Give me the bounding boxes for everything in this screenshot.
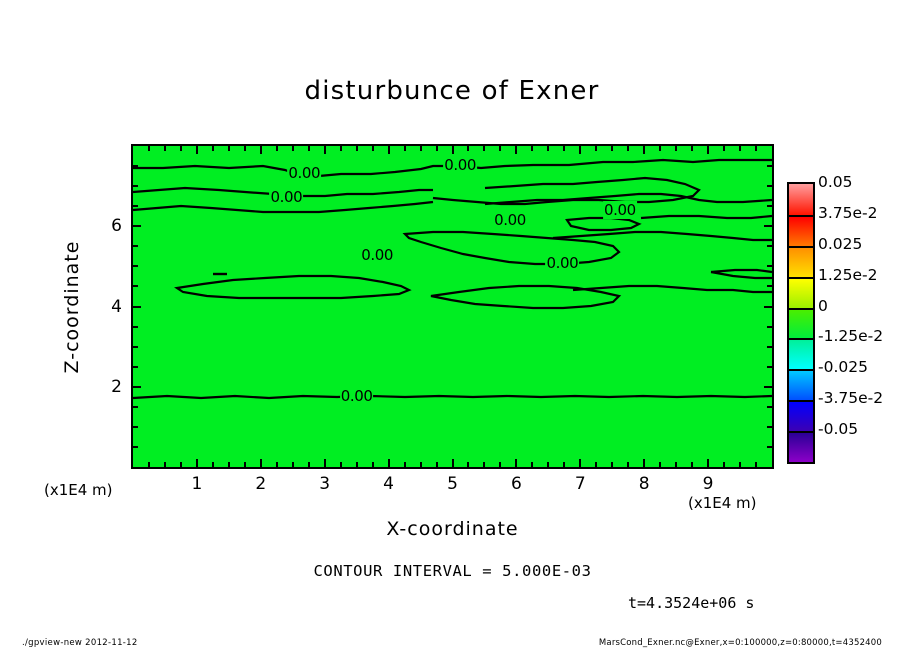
page-title: disturbunce of Exner xyxy=(0,76,904,106)
tick-mark xyxy=(324,459,326,467)
tick-mark xyxy=(467,146,469,151)
tick-mark xyxy=(767,245,772,247)
colorbar-tick-label: -3.75e-2 xyxy=(818,389,883,407)
tick-mark xyxy=(764,225,772,227)
tick-mark xyxy=(531,462,533,467)
tick-mark xyxy=(244,146,246,151)
y-tick-label: 6 xyxy=(111,216,122,236)
contour-plot-area[interactable]: 0.00 0.00 0.00 0.00 0.00 0.00 0.00 0.00 xyxy=(131,144,774,469)
time-caption: t=4.3524e+06 s xyxy=(628,594,754,612)
tick-mark xyxy=(515,459,517,467)
tick-mark xyxy=(324,146,326,154)
tick-mark xyxy=(531,146,533,151)
contour-label: 0.00 xyxy=(493,211,527,229)
tick-mark xyxy=(764,386,772,388)
contour-interval-caption: CONTOUR INTERVAL = 5.000E-03 xyxy=(131,562,774,580)
tick-mark xyxy=(436,146,438,151)
tick-mark xyxy=(611,146,613,151)
tick-mark xyxy=(133,165,138,167)
colorbar-band xyxy=(789,246,813,277)
tick-mark xyxy=(133,225,141,227)
tick-mark xyxy=(483,462,485,467)
tick-mark xyxy=(611,462,613,467)
contour-label: 0.00 xyxy=(360,246,394,264)
tick-mark xyxy=(133,406,138,408)
colorbar-tick-label: 0.05 xyxy=(818,173,853,191)
tick-mark xyxy=(133,205,138,207)
x-tick-label: 7 xyxy=(575,474,586,494)
tick-mark xyxy=(755,462,757,467)
tick-mark xyxy=(276,146,278,151)
tick-mark xyxy=(659,146,661,151)
contour-label: 0.00 xyxy=(443,156,477,174)
colorbar-tick-label: -1.25e-2 xyxy=(818,327,883,345)
colorbar-band xyxy=(789,308,813,339)
tick-mark xyxy=(340,146,342,151)
tick-mark xyxy=(388,459,390,467)
tick-mark xyxy=(483,146,485,151)
footer-source: MarsCond_Exner.nc@Exner,x=0:100000,z=0:8… xyxy=(599,638,882,648)
tick-mark xyxy=(372,462,374,467)
tick-mark xyxy=(515,146,517,154)
tick-mark xyxy=(659,462,661,467)
tick-mark xyxy=(547,462,549,467)
tick-mark xyxy=(133,285,138,287)
colorbar-band xyxy=(789,369,813,400)
x-tick-label: 5 xyxy=(447,474,458,494)
tick-mark xyxy=(643,459,645,467)
tick-mark xyxy=(404,146,406,151)
tick-mark xyxy=(388,146,390,154)
tick-mark xyxy=(180,462,182,467)
tick-mark xyxy=(767,165,772,167)
footer-command: ./gpview-new 2012-11-12 xyxy=(22,638,138,648)
tick-mark xyxy=(276,462,278,467)
contour-label: 0.00 xyxy=(340,387,374,405)
tick-mark xyxy=(707,146,709,154)
tick-mark xyxy=(133,245,138,247)
tick-mark xyxy=(164,462,166,467)
y-axis-title: Z-coordinate xyxy=(61,241,83,374)
tick-mark xyxy=(767,326,772,328)
tick-mark xyxy=(767,366,772,368)
tick-mark xyxy=(133,265,138,267)
colorbar-tick-label: -0.05 xyxy=(818,420,858,438)
colorbar-band xyxy=(789,184,813,215)
colorbar-tick-label: -0.025 xyxy=(818,358,868,376)
tick-mark xyxy=(133,446,138,448)
tick-mark xyxy=(260,459,262,467)
x-tick-label: 4 xyxy=(383,474,394,494)
tick-mark xyxy=(260,146,262,154)
tick-mark xyxy=(133,306,141,308)
tick-mark xyxy=(739,146,741,151)
contour-label: 0.00 xyxy=(603,201,637,219)
colorbar-tick-label: 0.025 xyxy=(818,235,862,253)
tick-mark xyxy=(308,146,310,151)
colorbar-band xyxy=(789,277,813,308)
tick-mark xyxy=(436,462,438,467)
tick-mark xyxy=(196,459,198,467)
tick-mark xyxy=(767,205,772,207)
x-axis-unit-right: (x1E4 m) xyxy=(688,494,757,512)
colorbar-tick-label: 1.25e-2 xyxy=(818,266,878,284)
x-tick-label: 2 xyxy=(255,474,266,494)
tick-mark xyxy=(499,146,501,151)
colorbar-band xyxy=(789,215,813,246)
tick-mark xyxy=(467,462,469,467)
tick-mark xyxy=(133,366,138,368)
tick-mark xyxy=(420,146,422,151)
x-tick-label: 9 xyxy=(703,474,714,494)
contour-label: 0.00 xyxy=(269,188,303,206)
colorbar[interactable] xyxy=(787,182,815,464)
tick-mark xyxy=(196,146,198,154)
tick-mark xyxy=(228,462,230,467)
x-tick-label: 6 xyxy=(511,474,522,494)
contour-label: 0.00 xyxy=(287,164,321,182)
tick-mark xyxy=(723,146,725,151)
colorbar-tick-label: 0 xyxy=(818,297,828,315)
tick-mark xyxy=(164,146,166,151)
tick-mark xyxy=(767,265,772,267)
tick-mark xyxy=(595,462,597,467)
tick-mark xyxy=(212,462,214,467)
x-tick-label: 3 xyxy=(319,474,330,494)
tick-mark xyxy=(420,462,422,467)
tick-mark xyxy=(452,146,454,154)
tick-mark xyxy=(133,185,138,187)
y-tick-label: 4 xyxy=(111,297,122,317)
tick-mark xyxy=(767,406,772,408)
tick-mark xyxy=(228,146,230,151)
tick-mark xyxy=(356,462,358,467)
x-tick-label: 1 xyxy=(191,474,202,494)
tick-mark xyxy=(691,146,693,151)
contour-label: 0.00 xyxy=(546,254,580,272)
colorbar-band xyxy=(789,400,813,431)
colorbar-tick-label: 3.75e-2 xyxy=(818,204,878,222)
tick-mark xyxy=(452,459,454,467)
tick-mark xyxy=(723,462,725,467)
tick-mark xyxy=(133,346,138,348)
tick-mark xyxy=(292,462,294,467)
tick-mark xyxy=(764,306,772,308)
tick-mark xyxy=(133,386,141,388)
x-tick-label: 8 xyxy=(639,474,650,494)
contour-lines xyxy=(133,146,772,467)
tick-mark xyxy=(739,462,741,467)
tick-mark xyxy=(133,426,138,428)
tick-mark xyxy=(133,326,138,328)
tick-mark xyxy=(308,462,310,467)
tick-mark xyxy=(643,146,645,154)
tick-mark xyxy=(148,462,150,467)
x-axis-unit-left: (x1E4 m) xyxy=(44,481,113,499)
tick-mark xyxy=(767,285,772,287)
tick-mark xyxy=(627,462,629,467)
tick-mark xyxy=(340,462,342,467)
tick-mark xyxy=(356,146,358,151)
tick-mark xyxy=(767,426,772,428)
tick-mark xyxy=(767,185,772,187)
tick-mark xyxy=(244,462,246,467)
tick-mark xyxy=(579,146,581,154)
tick-mark xyxy=(148,146,150,151)
tick-mark xyxy=(563,146,565,151)
tick-mark xyxy=(767,346,772,348)
tick-mark xyxy=(563,462,565,467)
tick-mark xyxy=(180,146,182,151)
x-axis-title: X-coordinate xyxy=(131,518,774,540)
y-tick-label: 2 xyxy=(111,377,122,397)
tick-mark xyxy=(404,462,406,467)
tick-mark xyxy=(547,146,549,151)
tick-mark xyxy=(691,462,693,467)
tick-mark xyxy=(212,146,214,151)
tick-mark xyxy=(595,146,597,151)
tick-mark xyxy=(675,146,677,151)
tick-mark xyxy=(372,146,374,151)
tick-mark xyxy=(707,459,709,467)
tick-mark xyxy=(755,146,757,151)
tick-mark xyxy=(627,146,629,151)
tick-mark xyxy=(499,462,501,467)
colorbar-band xyxy=(789,338,813,369)
colorbar-band xyxy=(789,431,813,462)
tick-mark xyxy=(767,446,772,448)
tick-mark xyxy=(292,146,294,151)
tick-mark xyxy=(579,459,581,467)
tick-mark xyxy=(675,462,677,467)
